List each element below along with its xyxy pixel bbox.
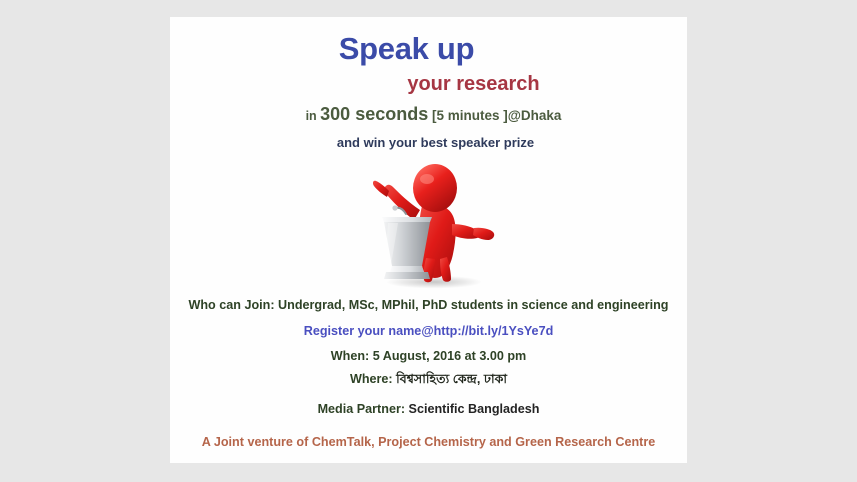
detail-where-value: বিশ্বসাহিত্য কেন্দ্র, ঢাকা: [396, 372, 507, 386]
poster-card: Speak up your research in 300 seconds [5…: [170, 17, 687, 463]
figure-head: [413, 164, 457, 212]
detail-media-partner-value: Scientific Bangladesh: [409, 402, 540, 416]
duration-line: in 300 seconds [5 minutes ]@Dhaka: [180, 105, 687, 125]
poster-stage: Speak up your research in 300 seconds [5…: [0, 0, 857, 482]
detail-when: When: 5 August, 2016 at 3.00 pm: [170, 349, 687, 363]
headline-secondary: your research: [260, 73, 687, 95]
detail-media-partner: Media Partner: Scientific Bangladesh: [170, 402, 687, 416]
tagline: and win your best speaker prize: [184, 135, 687, 150]
poster-details: Who can Join: Undergrad, MSc, MPhil, PhD…: [170, 298, 687, 449]
artwork-area: [170, 162, 687, 290]
microphone-head: [392, 206, 397, 211]
detail-when-value: 5 August, 2016 at 3.00 pm: [373, 349, 527, 363]
registration-link-text: Register your name@http://bit.ly/1YsYe7d: [304, 324, 554, 338]
detail-who-can-join-value: Undergrad, MSc, MPhil, PhD students in s…: [278, 298, 668, 312]
detail-media-partner-label: Media Partner:: [318, 402, 409, 416]
speaker-at-podium-illustration: [360, 162, 510, 290]
headline-primary: Speak up: [170, 33, 687, 66]
duration-prefix: in: [306, 109, 321, 123]
podium-top: [382, 217, 432, 222]
detail-where: Where: বিশ্বসাহিত্য কেন্দ্র, ঢাকা: [170, 372, 687, 386]
registration-link[interactable]: Register your name@http://bit.ly/1YsYe7d: [170, 324, 687, 338]
detail-when-label: When:: [331, 349, 373, 363]
poster-footer-credits: A Joint venture of ChemTalk, Project Che…: [170, 435, 687, 449]
detail-where-label: Where:: [350, 372, 396, 386]
poster-header: Speak up your research in 300 seconds [5…: [170, 17, 687, 150]
duration-value: 300 seconds: [320, 104, 428, 124]
figure-left-hand: [372, 181, 388, 197]
detail-who-can-join-label: Who can Join:: [188, 298, 278, 312]
detail-who-can-join: Who can Join: Undergrad, MSc, MPhil, PhD…: [170, 298, 687, 312]
podium-base-step: [390, 266, 424, 272]
duration-note: [5 minutes ]@Dhaka: [428, 108, 561, 123]
podium-base: [384, 272, 430, 279]
figure-head-highlight: [420, 174, 434, 184]
